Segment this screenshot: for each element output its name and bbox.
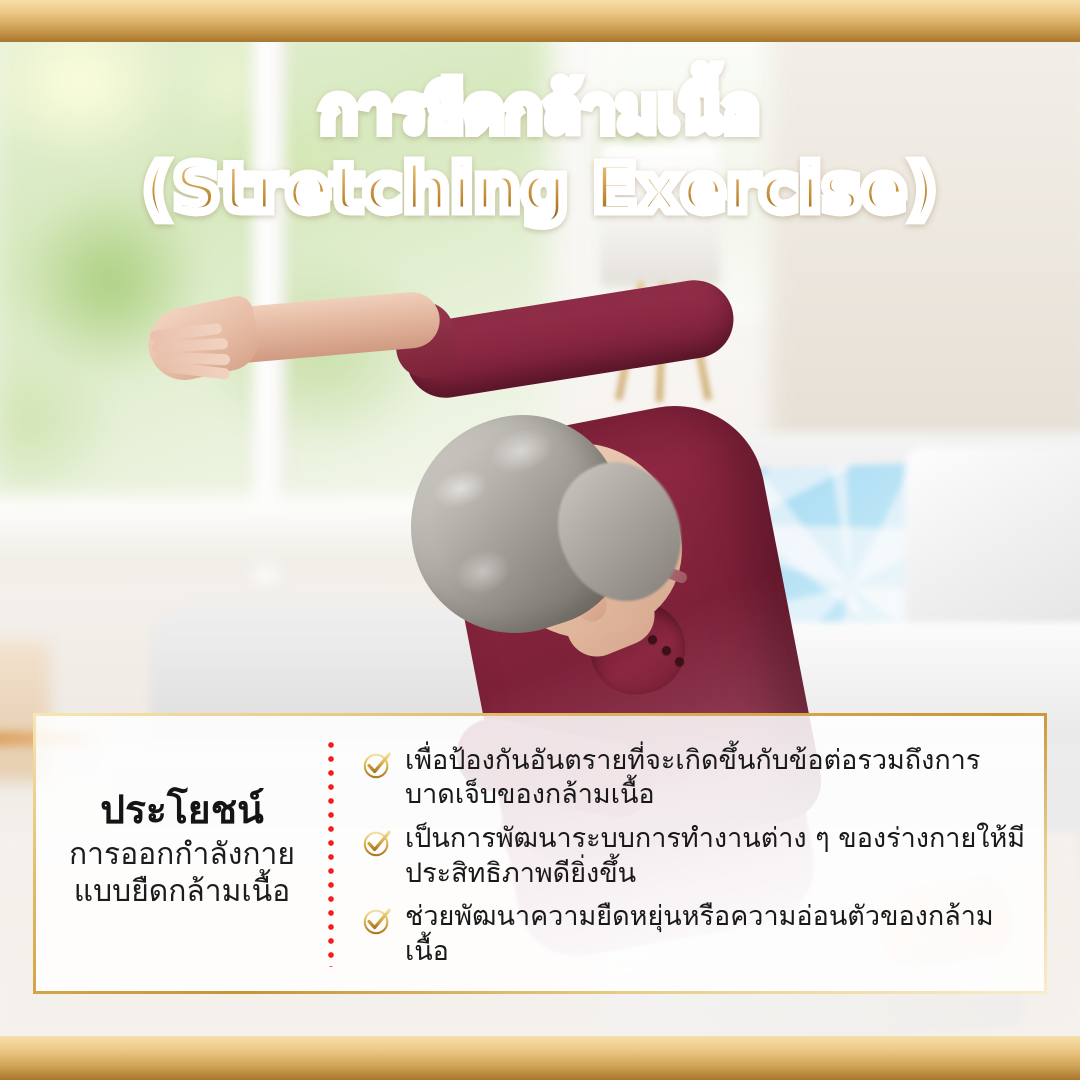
check-circle-icon (362, 750, 392, 780)
check-circle-icon (362, 906, 392, 936)
benefits-subheading-line-2: แบบยืดกล้ามเนื้อ (69, 874, 295, 911)
list-item: เป็นการพัฒนาระบบการทำงานต่าง ๆ ของร่างกา… (362, 822, 1026, 891)
list-item: ช่วยพัฒนาความยืดหยุ่นหรือความอ่อนตัวของก… (362, 900, 1026, 969)
poster-root: การยืดกล้ามเนื้อ (Stretching Exercise) ป… (0, 0, 1080, 1080)
title-line-english: (Stretching Exercise) (0, 155, 1080, 222)
benefits-heading: ประโยชน์ (100, 790, 264, 833)
benefits-panel: ประโยชน์ การออกกำลังกาย แบบยืดกล้ามเนื้อ (33, 713, 1047, 994)
top-gold-band (0, 0, 1080, 42)
list-item-text: ช่วยพัฒนาความยืดหยุ่นหรือความอ่อนตัวของก… (405, 900, 1026, 969)
list-item: เพื่อป้องกันอันตรายที่จะเกิดขึ้นกับข้อต่… (362, 744, 1026, 813)
benefits-list: เพื่อป้องกันอันตรายที่จะเกิดขึ้นกับข้อต่… (334, 716, 1044, 991)
benefits-subheading: การออกกำลังกาย แบบยืดกล้ามเนื้อ (69, 837, 295, 910)
shirt-button (648, 635, 657, 644)
bottom-gold-band (0, 1036, 1080, 1080)
benefits-heading-block: ประโยชน์ การออกกำลังกาย แบบยืดกล้ามเนื้อ (36, 716, 328, 991)
shirt-button (675, 657, 684, 666)
list-item-text: เพื่อป้องกันอันตรายที่จะเกิดขึ้นกับข้อต่… (405, 744, 1026, 813)
poster-title: การยืดกล้ามเนื้อ (Stretching Exercise) (0, 78, 1080, 223)
shirt-button (662, 646, 671, 655)
title-line-thai: การยืดกล้ามเนื้อ (0, 78, 1080, 141)
list-item-text: เป็นการพัฒนาระบบการทำงานต่าง ๆ ของร่างกา… (405, 822, 1026, 891)
benefits-subheading-line-1: การออกกำลังกาย (69, 837, 295, 874)
check-circle-icon (362, 828, 392, 858)
